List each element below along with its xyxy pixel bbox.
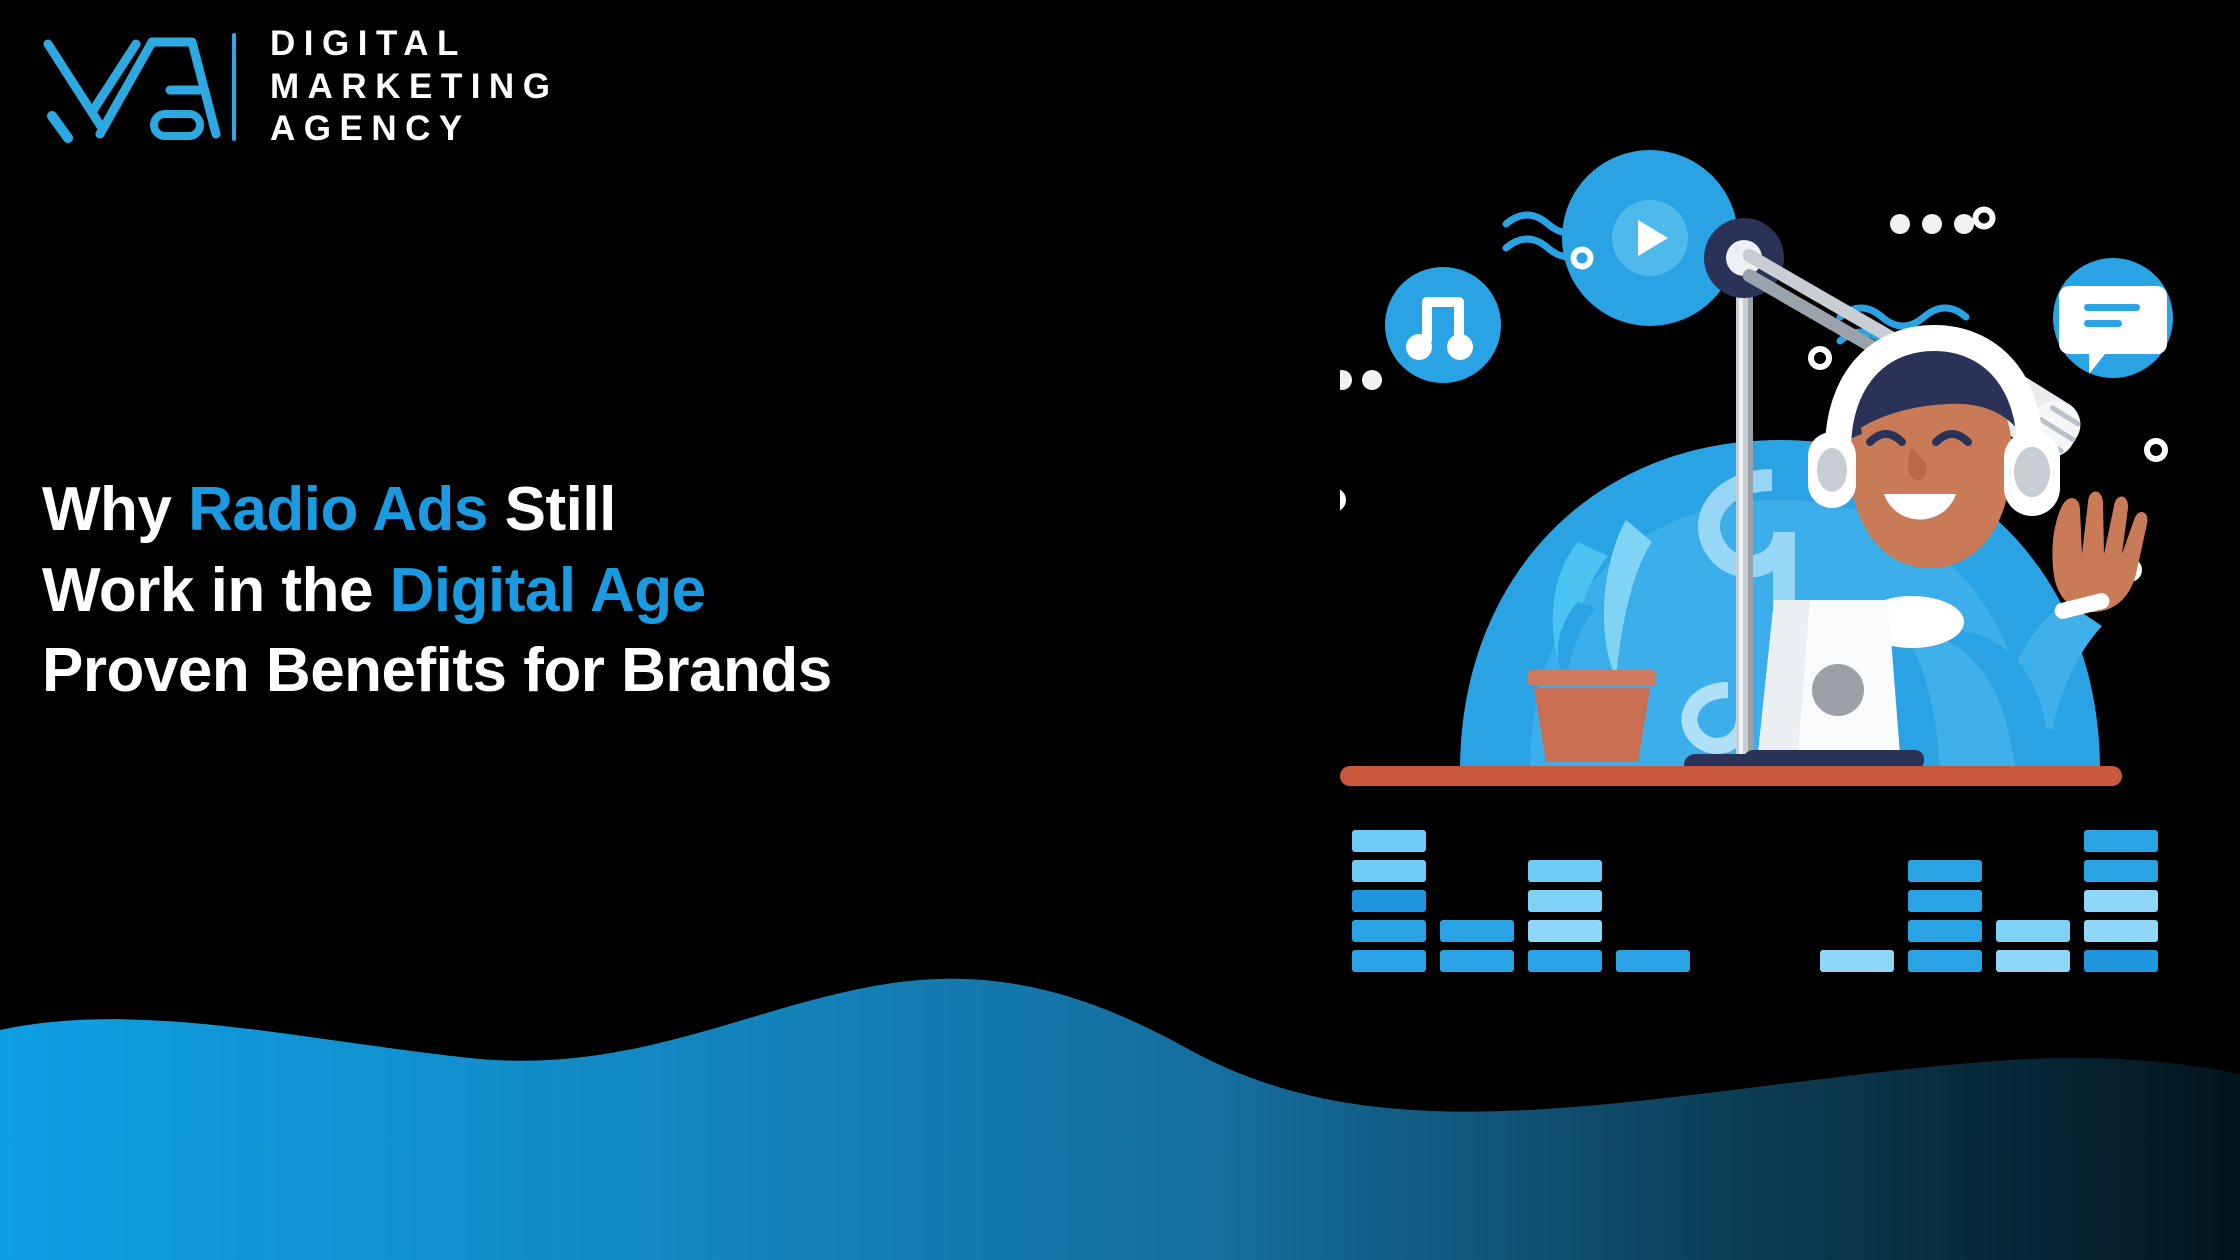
brand-wordmark: DIGITAL MARKETING AGENCY <box>270 26 558 148</box>
equalizer-left <box>1352 830 1690 972</box>
dot-cluster-decoration <box>1340 370 1382 390</box>
headline-line-1: Why Radio Ads Still <box>42 470 832 551</box>
headline-accent-radio-ads: Radio Ads <box>188 475 488 544</box>
headline-line-2: Work in the Digital Age <box>42 551 832 632</box>
logo-divider <box>232 33 236 141</box>
headline-text: Still <box>488 475 616 544</box>
headline-text: Why <box>42 475 188 544</box>
brand-word-digital: DIGITAL <box>270 26 558 63</box>
chat-bubble-icon[interactable] <box>2053 258 2173 378</box>
brand-word-agency: AGENCY <box>270 111 558 148</box>
brand-word-marketing: MARKETING <box>270 69 558 106</box>
page-title: Why Radio Ads Still Work in the Digital … <box>42 470 832 712</box>
radio-podcast-host-illustration <box>1340 150 2240 1000</box>
headline-text: Work in the <box>42 556 390 625</box>
dot-cluster-decoration <box>1890 214 1974 234</box>
music-note-icon[interactable] <box>1385 267 1501 383</box>
equalizer-right <box>1820 830 2158 972</box>
xa-monogram-icon <box>30 22 230 152</box>
headline-line-3: Proven Benefits for Brands <box>42 631 832 712</box>
headline-accent-digital-age: Digital Age <box>390 556 706 625</box>
desk-surface <box>1340 766 2122 786</box>
brand-logo[interactable]: DIGITAL MARKETING AGENCY <box>30 22 558 152</box>
